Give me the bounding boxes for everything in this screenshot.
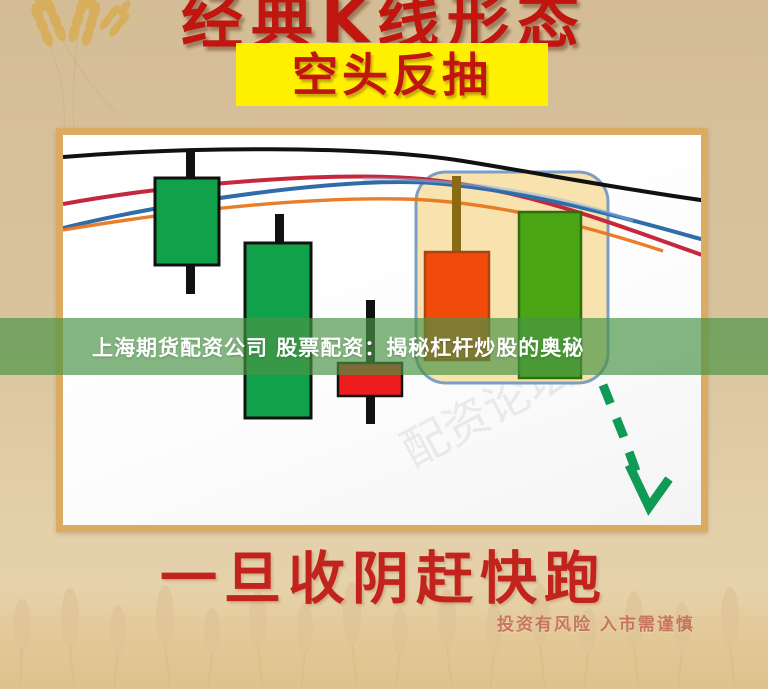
annotation-down-arrow bbox=[603, 385, 669, 507]
bottom-slogan: 一旦收阴赶快跑 bbox=[0, 533, 768, 615]
page-subhead: 空头反抽 bbox=[292, 52, 492, 98]
overlay-banner: 上海期货配资公司 股票配资：揭秘杠杆炒股的奥秘 bbox=[0, 318, 768, 375]
risk-disclaimer: 投资有风险 入市需谨慎 bbox=[497, 610, 695, 635]
candle-2-bullish bbox=[245, 214, 311, 418]
subhead-highlight: 空头反抽 bbox=[236, 43, 548, 106]
candle-1-bullish bbox=[155, 152, 219, 294]
overlay-banner-text: 上海期货配资公司 股票配资：揭秘杠杆炒股的奥秘 bbox=[92, 332, 584, 362]
poster-canvas: 经典K线形态 空头反抽 配资论坛 bbox=[0, 0, 768, 689]
